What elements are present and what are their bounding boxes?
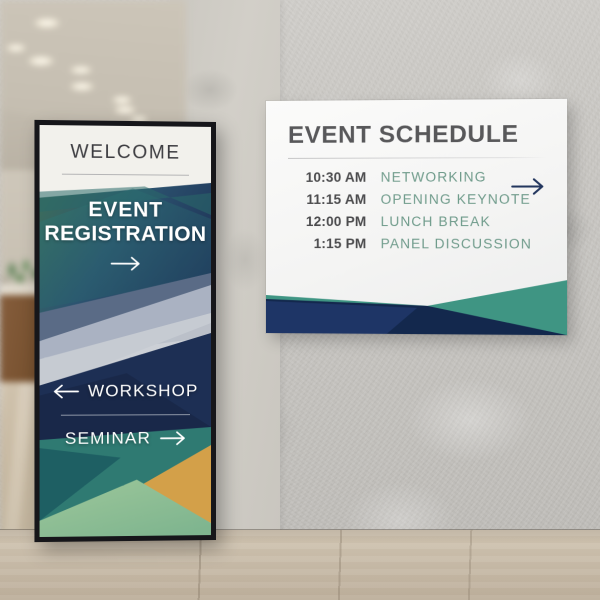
ceiling-light bbox=[34, 18, 60, 28]
arrow-left-icon[interactable] bbox=[52, 384, 78, 398]
arrow-right-icon[interactable] bbox=[160, 431, 186, 445]
schedule-event-name: LUNCH BREAK bbox=[381, 214, 491, 229]
schedule-event-name: PANEL DISCUSSION bbox=[381, 237, 532, 252]
schedule-time: 1:15 PM bbox=[288, 236, 366, 251]
schedule-event-name: NETWORKING bbox=[381, 170, 487, 185]
banner-welcome-block: WELCOME bbox=[40, 125, 211, 176]
schedule-title: EVENT SCHEDULE bbox=[288, 121, 546, 149]
arrow-right-icon[interactable] bbox=[511, 176, 546, 196]
schedule-time: 11:15 AM bbox=[288, 192, 366, 207]
registration-block[interactable]: EVENT REGISTRATION bbox=[40, 198, 211, 272]
arrow-right-icon[interactable] bbox=[105, 256, 145, 272]
schedule-row[interactable]: 11:15 AM OPENING KEYNOTE bbox=[288, 192, 546, 207]
ceiling-light bbox=[112, 96, 132, 104]
nav-divider bbox=[61, 414, 190, 416]
schedule-content: EVENT SCHEDULE 10:30 AM NETWORKING 11:15… bbox=[266, 99, 567, 335]
ceiling-light bbox=[28, 56, 54, 66]
schedule-event-name: OPENING KEYNOTE bbox=[381, 192, 531, 207]
ceiling-light bbox=[114, 106, 136, 114]
schedule-row[interactable]: 10:30 AM NETWORKING bbox=[288, 170, 546, 186]
banner-navigation-block: WORKSHOP SEMINAR bbox=[40, 377, 211, 453]
registration-title-line1: EVENT bbox=[40, 198, 211, 223]
lobby-signage-scene: EVENT SCHEDULE 10:30 AM NETWORKING 11:15… bbox=[0, 0, 600, 600]
ceiling-light bbox=[70, 82, 94, 91]
schedule-row[interactable]: 1:15 PM PANEL DISCUSSION bbox=[288, 236, 546, 252]
banner-panel: WELCOME EVENT REGISTRATION WORKSHOP bbox=[40, 125, 211, 537]
event-schedule-sign[interactable]: EVENT SCHEDULE 10:30 AM NETWORKING 11:15… bbox=[266, 99, 567, 335]
event-registration-banner[interactable]: WELCOME EVENT REGISTRATION WORKSHOP bbox=[34, 120, 216, 542]
schedule-row[interactable]: 12:00 PM LUNCH BREAK bbox=[288, 214, 546, 229]
nav-item-seminar[interactable]: SEMINAR bbox=[40, 424, 211, 453]
schedule-title-divider bbox=[288, 157, 546, 159]
nav-item-workshop[interactable]: WORKSHOP bbox=[40, 377, 211, 406]
banner-decorative-graphic bbox=[40, 125, 211, 537]
schedule-time: 12:00 PM bbox=[288, 214, 366, 229]
ceiling-light bbox=[70, 66, 92, 74]
ceiling-light bbox=[6, 44, 26, 52]
welcome-title: WELCOME bbox=[40, 141, 211, 165]
schedule-time: 10:30 AM bbox=[288, 170, 366, 185]
nav-label-workshop: WORKSHOP bbox=[88, 381, 199, 401]
nav-label-seminar: SEMINAR bbox=[65, 428, 151, 449]
registration-title-line2: REGISTRATION bbox=[40, 221, 211, 246]
